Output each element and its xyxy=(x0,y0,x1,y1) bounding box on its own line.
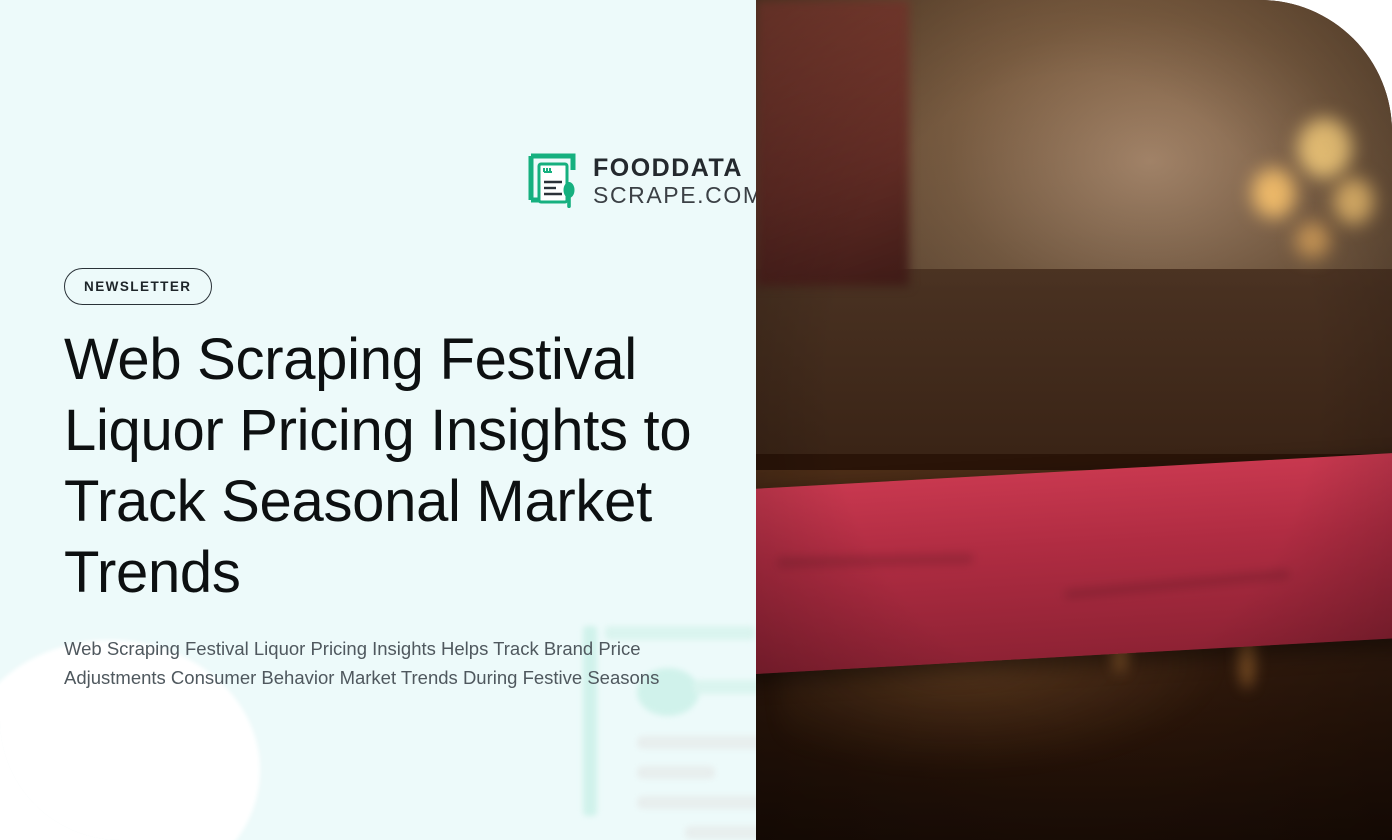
logo-text-primary: FOODDATA xyxy=(593,156,764,181)
page-title: Web Scraping Festival Liquor Pricing Ins… xyxy=(64,324,704,608)
brand-logo[interactable]: FOODDATA SCRAPE.COM xyxy=(523,150,764,212)
newsletter-badge[interactable]: NEWSLETTER xyxy=(64,268,212,305)
document-utensils-icon xyxy=(523,150,581,212)
hero-photo: SINGLE MALT SCOTCH WHISKY Smooth & Smoke… xyxy=(756,0,1392,840)
newsletter-hero-banner: FOODDATA SCRAPE.COM NEWSLETTER Web Scrap… xyxy=(0,0,1392,840)
page-subtitle: Web Scraping Festival Liquor Pricing Ins… xyxy=(64,634,664,692)
logo-text-secondary: SCRAPE.COM xyxy=(593,184,764,207)
